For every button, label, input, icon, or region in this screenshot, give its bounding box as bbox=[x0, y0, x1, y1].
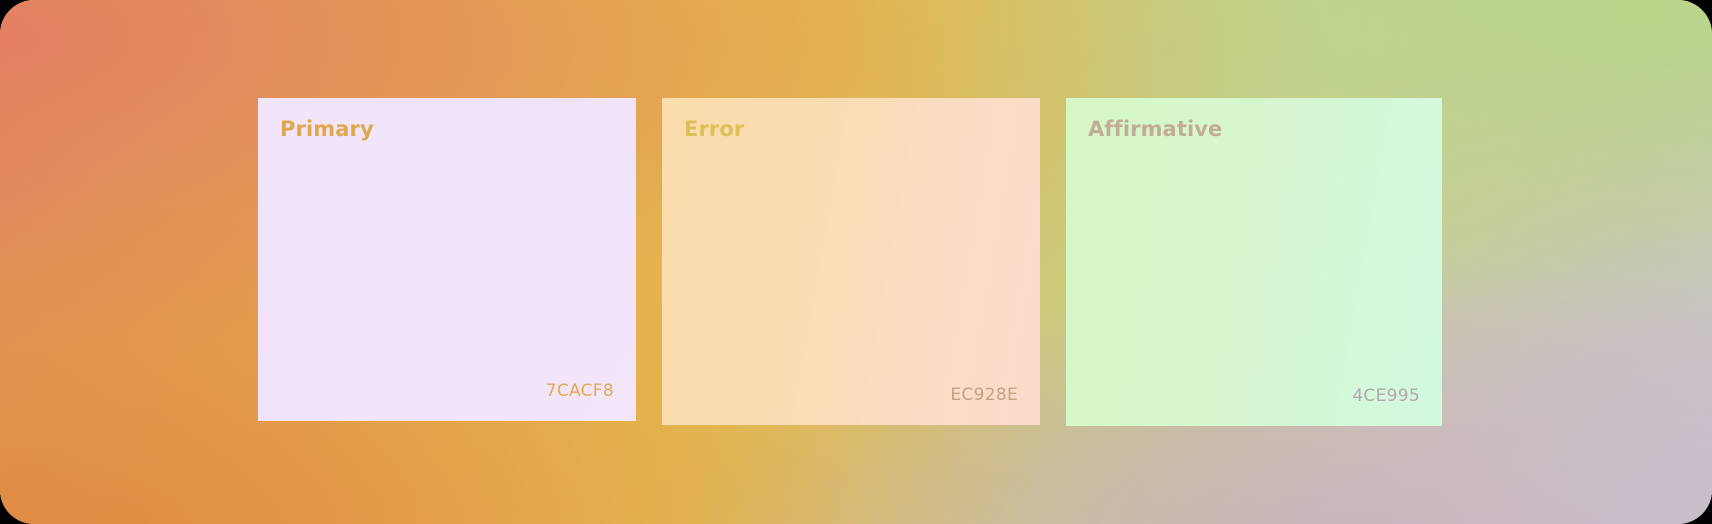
color-swatch-affirmative[interactable]: Affirmative 4CE995 bbox=[1066, 98, 1442, 426]
color-swatch-primary[interactable]: Primary 7CACF8 bbox=[258, 98, 636, 421]
swatch-hex-value: 4CE995 bbox=[1352, 387, 1420, 406]
color-swatch-error[interactable]: Error EC928E bbox=[662, 98, 1040, 425]
swatch-title: Primary bbox=[280, 118, 614, 141]
swatch-title: Affirmative bbox=[1088, 118, 1420, 141]
color-palette-canvas: Primary 7CACF8 Error EC928E Affirmative … bbox=[0, 0, 1712, 524]
swatch-hex-value: EC928E bbox=[950, 386, 1018, 405]
swatch-title: Error bbox=[684, 118, 1018, 141]
swatch-hex-value: 7CACF8 bbox=[546, 382, 614, 401]
swatch-row: Primary 7CACF8 Error EC928E Affirmative … bbox=[258, 98, 1442, 426]
